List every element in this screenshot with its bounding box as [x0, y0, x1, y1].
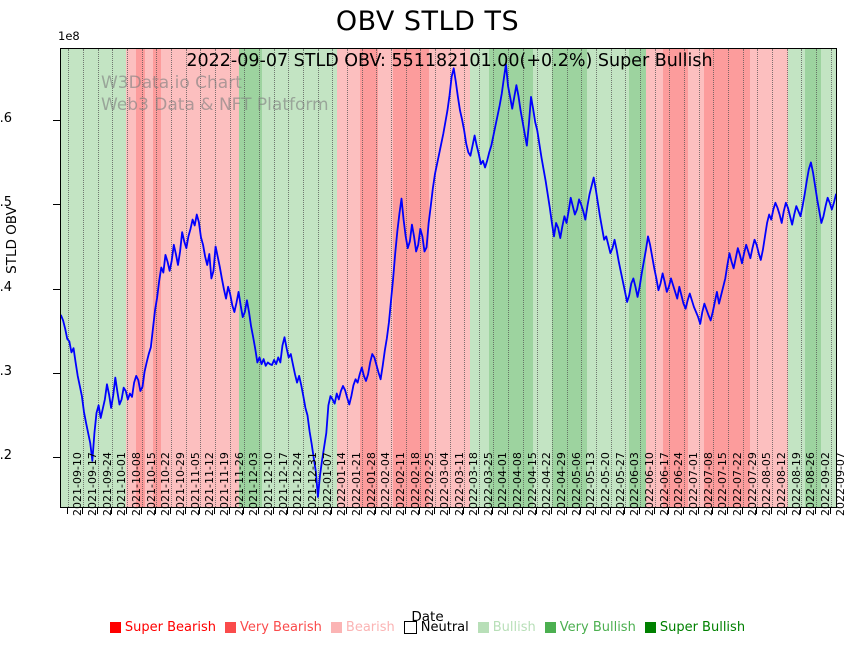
y-axis-title: STLD OBV: [4, 206, 20, 274]
x-tick-label: 2021-12-17: [277, 452, 290, 516]
legend-item[interactable]: Very Bullish: [545, 620, 636, 635]
x-tick-mark: [199, 508, 200, 514]
x-tick-label: 2022-03-11: [453, 452, 466, 516]
x-tick-label: 2021-12-31: [306, 452, 319, 516]
x-tick-mark: [595, 508, 596, 514]
x-tick-label: 2022-06-24: [672, 452, 685, 516]
x-tick-mark: [624, 508, 625, 514]
legend-label: Neutral: [421, 620, 469, 635]
x-tick-label: 2022-02-25: [423, 452, 436, 516]
x-tick-mark: [317, 508, 318, 514]
x-tick-label: 2022-01-21: [350, 452, 363, 516]
x-tick-mark: [258, 508, 259, 514]
x-tick-label: 2021-12-24: [291, 452, 304, 516]
x-tick-label: 2022-04-08: [511, 452, 524, 516]
x-tick-label: 2022-01-14: [335, 452, 348, 516]
chart-title: OBV STLD TS: [0, 6, 855, 37]
x-tick-label: 2022-02-04: [379, 452, 392, 516]
x-tick-mark: [536, 508, 537, 514]
x-tick-label: 2021-10-08: [130, 452, 143, 516]
y-tick-label: 5.2: [0, 448, 12, 463]
legend-swatch-icon: [545, 622, 556, 633]
x-tick-mark: [654, 508, 655, 514]
x-tick-label: 2022-01-07: [321, 452, 334, 516]
x-tick-mark: [273, 508, 274, 514]
legend-swatch-icon: [225, 622, 236, 633]
legend-label: Bearish: [346, 620, 395, 635]
x-tick-mark: [742, 508, 743, 514]
y-tick-mark: [53, 373, 60, 374]
x-tick-label: 2022-04-22: [540, 452, 553, 516]
x-tick-mark: [463, 508, 464, 514]
x-tick-label: 2022-02-11: [394, 452, 407, 516]
chart-legend: Super BearishVery BearishBearishNeutralB…: [0, 620, 855, 635]
y-tick-label: 5.3: [0, 364, 12, 379]
y-tick-mark: [53, 457, 60, 458]
x-tick-label: 2022-03-04: [438, 452, 451, 516]
legend-label: Very Bearish: [240, 620, 322, 635]
y-tick-label: 5.5: [0, 195, 12, 210]
x-tick-label: 2021-09-10: [71, 452, 84, 516]
legend-label: Very Bullish: [560, 620, 636, 635]
x-tick-mark: [97, 508, 98, 514]
x-tick-mark: [610, 508, 611, 514]
x-tick-mark: [712, 508, 713, 514]
x-tick-mark: [566, 508, 567, 514]
x-tick-label: 2022-09-02: [819, 452, 832, 516]
x-tick-mark: [361, 508, 362, 514]
x-tick-label: 2022-05-06: [570, 452, 583, 516]
x-tick-mark: [639, 508, 640, 514]
x-tick-mark: [492, 508, 493, 514]
x-tick-label: 2022-04-29: [555, 452, 568, 516]
x-tick-label: 2022-06-03: [628, 452, 641, 516]
x-tick-label: 2022-04-01: [496, 452, 509, 516]
x-tick-mark: [331, 508, 332, 514]
x-tick-mark: [815, 508, 816, 514]
legend-item[interactable]: Bearish: [331, 620, 395, 635]
x-tick-label: 2021-12-03: [247, 452, 260, 516]
x-tick-mark: [375, 508, 376, 514]
x-tick-label: 2022-08-05: [760, 452, 773, 516]
x-tick-label: 2022-07-08: [702, 452, 715, 516]
y-tick-mark: [53, 289, 60, 290]
x-tick-label: 2022-03-18: [467, 452, 480, 516]
legend-swatch-icon: [645, 622, 656, 633]
x-tick-label: 2021-10-22: [159, 452, 172, 516]
x-tick-mark: [405, 508, 406, 514]
x-tick-label: 2021-09-17: [86, 452, 99, 516]
x-tick-label: 2022-07-22: [731, 452, 744, 516]
x-tick-label: 2022-05-20: [599, 452, 612, 516]
x-tick-mark: [302, 508, 303, 514]
legend-item[interactable]: Super Bullish: [645, 620, 745, 635]
x-tick-mark: [155, 508, 156, 514]
x-tick-label: 2022-05-13: [584, 452, 597, 516]
x-tick-mark: [434, 508, 435, 514]
x-tick-mark: [82, 508, 83, 514]
x-tick-label: 2021-11-12: [203, 452, 216, 516]
x-tick-label: 2022-02-18: [409, 452, 422, 516]
x-tick-mark: [771, 508, 772, 514]
legend-item[interactable]: Neutral: [404, 620, 469, 635]
x-tick-label: 2021-10-29: [174, 452, 187, 516]
y-tick-mark: [53, 204, 60, 205]
x-tick-mark: [287, 508, 288, 514]
x-tick-mark: [170, 508, 171, 514]
x-tick-mark: [214, 508, 215, 514]
x-tick-label: 2022-07-29: [746, 452, 759, 516]
x-tick-mark: [419, 508, 420, 514]
legend-label: Super Bearish: [125, 620, 216, 635]
x-tick-label: 2022-07-01: [687, 452, 700, 516]
y-tick-label: 5.6: [0, 111, 12, 126]
x-tick-label: 2022-08-12: [775, 452, 788, 516]
x-tick-mark: [478, 508, 479, 514]
legend-swatch-icon: [331, 622, 342, 633]
obv-line-series: [61, 49, 836, 507]
x-tick-mark: [111, 508, 112, 514]
x-tick-label: 2022-08-19: [790, 452, 803, 516]
y-axis-offset-label: 1e8: [58, 29, 80, 43]
x-tick-label: 2021-11-26: [233, 452, 246, 516]
legend-item[interactable]: Bullish: [478, 620, 536, 635]
x-tick-mark: [551, 508, 552, 514]
x-tick-mark: [390, 508, 391, 514]
x-tick-mark: [507, 508, 508, 514]
x-tick-label: 2022-09-07: [834, 452, 847, 516]
x-tick-mark: [522, 508, 523, 514]
x-tick-label: 2021-12-10: [262, 452, 275, 516]
x-tick-label: 2021-11-05: [189, 452, 202, 516]
x-tick-label: 2022-01-28: [365, 452, 378, 516]
x-tick-mark: [243, 508, 244, 514]
x-tick-mark: [449, 508, 450, 514]
x-tick-label: 2022-04-15: [526, 452, 539, 516]
legend-swatch-icon: [478, 622, 489, 633]
x-tick-mark: [580, 508, 581, 514]
x-tick-mark: [668, 508, 669, 514]
chart-subtitle: 2022-09-07 STLD OBV: 551182101.00(+0.2%)…: [61, 51, 837, 71]
legend-swatch-icon: [110, 622, 121, 633]
x-tick-mark: [346, 508, 347, 514]
x-tick-label: 2022-06-17: [658, 452, 671, 516]
chart-root: OBV STLD TS 1e8 STLD OBV 5.25.35.45.55.6…: [0, 0, 855, 646]
legend-item[interactable]: Super Bearish: [110, 620, 216, 635]
x-tick-mark: [67, 508, 68, 514]
x-tick-mark: [683, 508, 684, 514]
x-tick-label: 2022-08-26: [804, 452, 817, 516]
x-tick-mark: [830, 508, 831, 514]
x-tick-mark: [756, 508, 757, 514]
x-tick-mark: [698, 508, 699, 514]
x-tick-label: 2021-10-15: [145, 452, 158, 516]
legend-swatch-icon: [404, 621, 417, 634]
x-tick-label: 2022-06-10: [643, 452, 656, 516]
legend-item[interactable]: Very Bearish: [225, 620, 322, 635]
legend-label: Bullish: [493, 620, 536, 635]
x-tick-label: 2022-05-27: [614, 452, 627, 516]
x-tick-label: 2021-10-01: [115, 452, 128, 516]
x-tick-mark: [126, 508, 127, 514]
plot-area: W3Data.io Chart Web3 Data & NFT Platform…: [60, 48, 837, 508]
x-tick-label: 2021-11-19: [218, 452, 231, 516]
y-tick-mark: [53, 120, 60, 121]
x-tick-label: 2022-07-15: [716, 452, 729, 516]
legend-label: Super Bullish: [660, 620, 745, 635]
x-tick-mark: [185, 508, 186, 514]
x-tick-label: 2022-03-25: [482, 452, 495, 516]
x-tick-mark: [786, 508, 787, 514]
x-tick-mark: [727, 508, 728, 514]
x-tick-mark: [141, 508, 142, 514]
x-tick-mark: [229, 508, 230, 514]
y-tick-label: 5.4: [0, 280, 12, 295]
x-tick-label: 2021-09-24: [101, 452, 114, 516]
x-tick-mark: [800, 508, 801, 514]
